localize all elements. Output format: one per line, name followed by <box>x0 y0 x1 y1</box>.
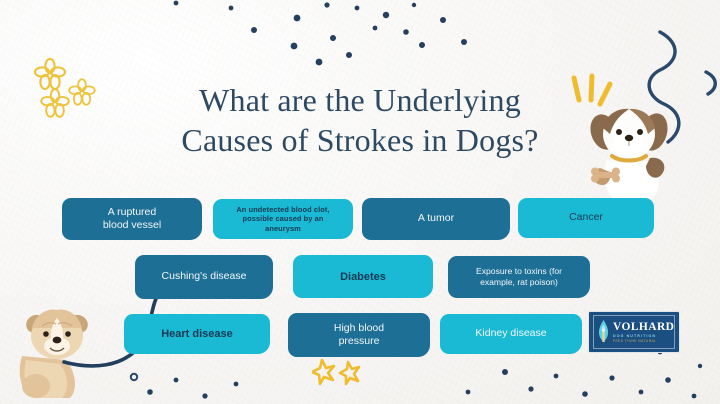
slide-canvas: What are the Underlying Causes of Stroke… <box>0 0 720 404</box>
cause-label: Exposure to toxins (for example, rat poi… <box>456 266 582 289</box>
cause-label: High blood pressure <box>296 322 422 349</box>
cause-label: Cancer <box>526 211 646 225</box>
volhard-logo[interactable]: VOLHARD DOG NUTRITION FEED THINK NATURAL <box>588 311 680 353</box>
cause-box-diabetes[interactable]: Diabetes <box>293 255 433 298</box>
title-line-2: Causes of Strokes in Dogs? <box>0 120 720 160</box>
cause-label: Heart disease <box>132 327 262 341</box>
cause-label: Diabetes <box>301 270 425 284</box>
cause-label: A tumor <box>370 212 502 226</box>
cause-box-tumor[interactable]: A tumor <box>362 198 510 240</box>
volhard-mark-icon <box>597 319 610 345</box>
cause-box-ruptured-blood-vessel[interactable]: A ruptured blood vessel <box>62 198 202 240</box>
cause-box-cushings-disease[interactable]: Cushing's disease <box>135 255 273 299</box>
cause-box-cancer[interactable]: Cancer <box>518 198 654 238</box>
cause-box-undetected-blood-clot[interactable]: An undetected blood clot, possible cause… <box>213 199 353 239</box>
cause-label: A ruptured blood vessel <box>70 206 194 233</box>
page-title: What are the Underlying Causes of Stroke… <box>0 80 720 160</box>
cause-label: An undetected blood clot, possible cause… <box>221 205 345 234</box>
logo-tagline: FEED THINK NATURAL <box>613 339 674 344</box>
cause-box-high-blood-pressure[interactable]: High blood pressure <box>288 313 430 357</box>
sparkle-stars-icon <box>312 356 368 386</box>
logo-brand: VOLHARD <box>613 321 674 333</box>
cause-box-kidney-disease[interactable]: Kidney disease <box>440 314 582 354</box>
cause-box-heart-disease[interactable]: Heart disease <box>124 314 270 354</box>
cause-label: Kidney disease <box>448 327 574 341</box>
cause-box-exposure-to-toxins[interactable]: Exposure to toxins (for example, rat poi… <box>448 256 590 298</box>
title-line-1: What are the Underlying <box>0 80 720 120</box>
cause-label: Cushing's disease <box>143 270 265 284</box>
